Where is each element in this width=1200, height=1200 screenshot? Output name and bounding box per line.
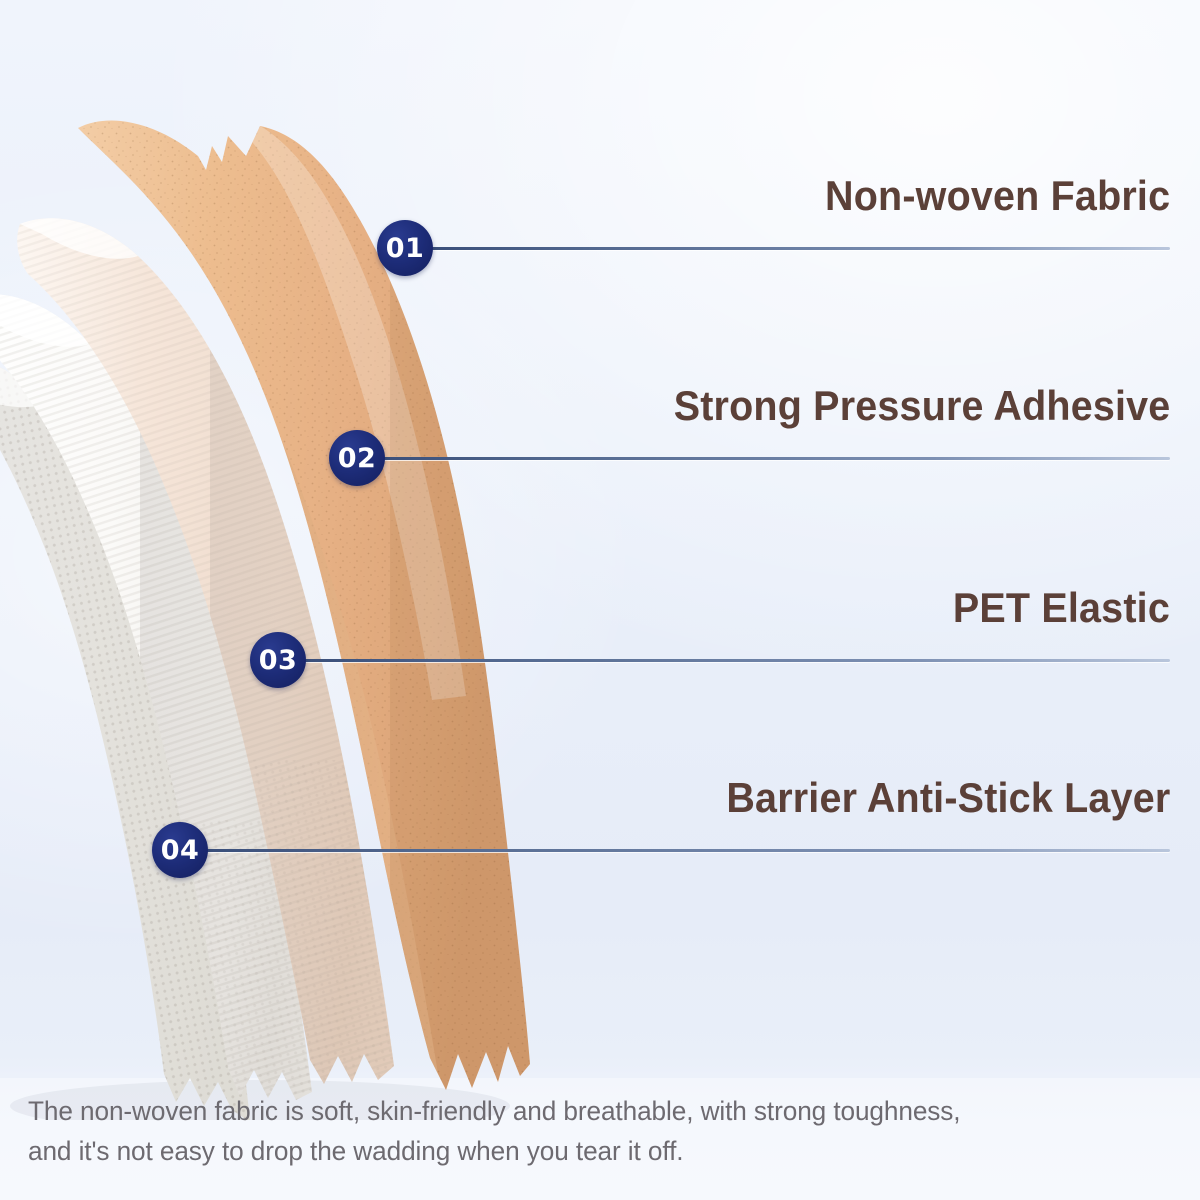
callout-01-label: Non-woven Fabric [825, 172, 1170, 220]
callout-01-number: 01 [386, 235, 425, 262]
callout-04-badge[interactable]: 04 [152, 822, 208, 878]
callout-02-badge[interactable]: 02 [329, 430, 385, 486]
callout-04-number: 04 [161, 837, 200, 864]
callout-02-label: Strong Pressure Adhesive [673, 382, 1170, 430]
callout-01-rule [430, 247, 1170, 250]
callout-02-number: 02 [338, 445, 377, 472]
callout-03-badge[interactable]: 03 [250, 632, 306, 688]
callout-03-label: PET Elastic [953, 584, 1170, 632]
caption-text: The non-woven fabric is soft, skin-frien… [28, 1092, 1144, 1172]
callout-04-label: Barrier Anti-Stick Layer [726, 774, 1170, 822]
callout-04-rule [205, 849, 1170, 852]
caption-line-2: and it's not easy to drop the wadding wh… [28, 1132, 1144, 1172]
product-illustration [0, 60, 660, 1120]
callout-03-number: 03 [259, 647, 298, 674]
callout-01-badge[interactable]: 01 [377, 220, 433, 276]
infographic-canvas: Non-woven Fabric 01 Strong Pressure Adhe… [0, 0, 1200, 1200]
caption-line-1: The non-woven fabric is soft, skin-frien… [28, 1092, 1144, 1132]
callout-02-rule [382, 457, 1170, 460]
callout-03-rule [303, 659, 1170, 662]
